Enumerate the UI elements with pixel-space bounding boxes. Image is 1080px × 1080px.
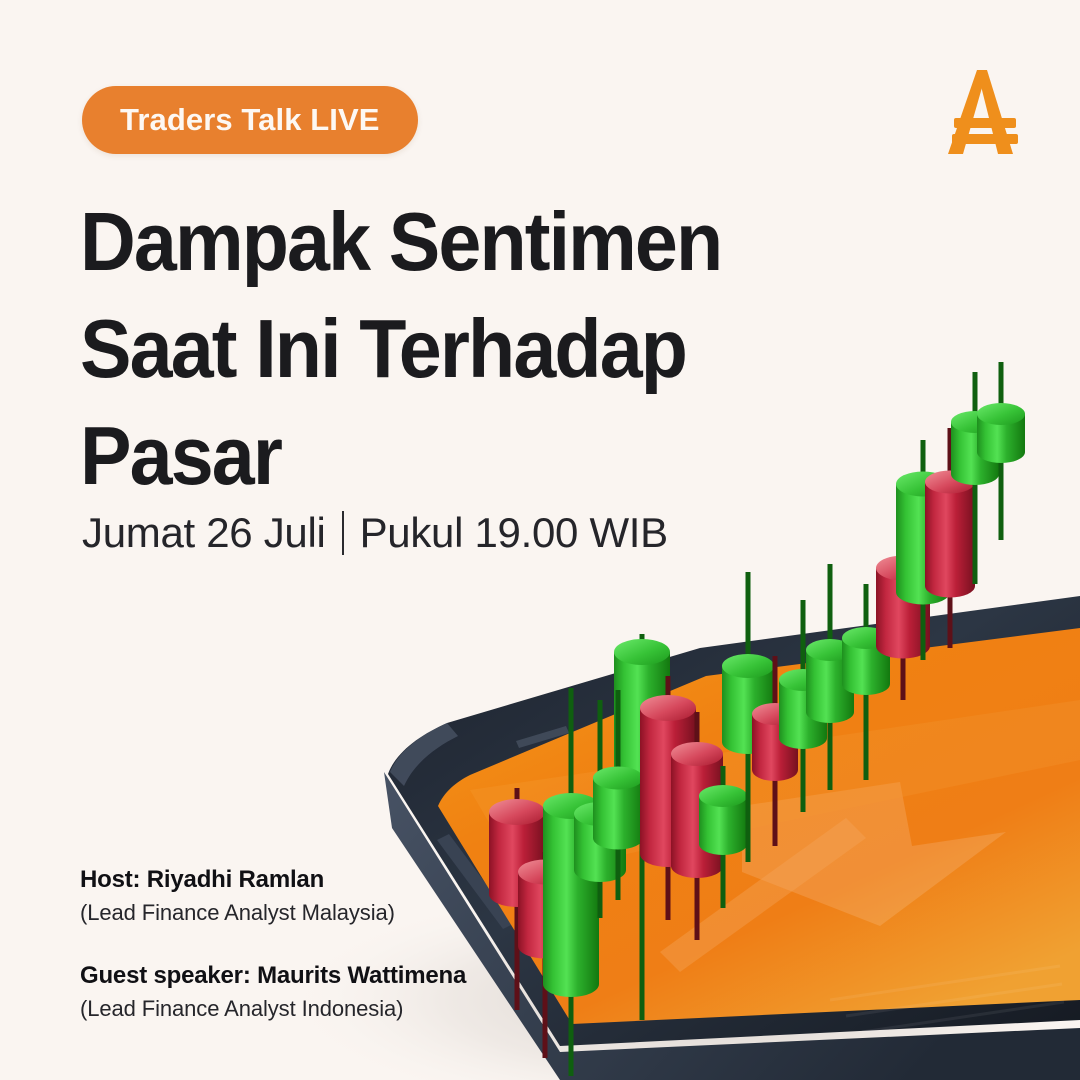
credit-host-role: (Lead Finance Analyst Malaysia)	[80, 900, 550, 926]
candle-17	[925, 428, 975, 648]
headline-line-1: Dampak Sentimen	[80, 188, 787, 295]
credit-guest-role: (Lead Finance Analyst Indonesia)	[80, 996, 550, 1022]
candle-11	[752, 656, 798, 846]
phone-rim-highlight	[390, 723, 458, 786]
candle-12	[779, 600, 827, 812]
candle-8	[671, 712, 723, 940]
live-badge-label: Traders Talk LIVE	[120, 102, 380, 138]
candle-4	[574, 700, 626, 918]
headline-line-2: Saat Ini Terhadap	[80, 295, 787, 402]
schedule: Jumat 26 Juli Pukul 19.00 WIB	[82, 509, 668, 557]
screen-arrow-watermark	[742, 782, 1006, 926]
credit-guest-name: Guest speaker: Maurits Wattimena	[80, 962, 550, 990]
credit-host-name: Host: Riyadhi Ramlan	[80, 866, 550, 894]
candle-9	[699, 766, 747, 908]
credit-host: Host: Riyadhi Ramlan (Lead Finance Analy…	[80, 866, 550, 926]
credit-guest: Guest speaker: Maurits Wattimena (Lead F…	[80, 962, 550, 1022]
speaker-credits: Host: Riyadhi Ramlan (Lead Finance Analy…	[80, 866, 550, 1022]
promo-poster: Traders Talk LIVE Dampak Sentimen Saat I…	[0, 0, 1080, 1080]
candle-13	[806, 564, 854, 790]
candle-16	[896, 440, 950, 660]
candle-7	[640, 676, 696, 920]
candle-19	[977, 362, 1025, 540]
schedule-time: Pukul 19.00 WIB	[360, 509, 668, 557]
headline-line-3: Pasar	[80, 402, 787, 509]
candle-15	[876, 520, 930, 700]
candle-5	[614, 634, 670, 1020]
candle-18	[951, 372, 999, 584]
schedule-divider	[342, 511, 344, 555]
candle-14	[842, 584, 890, 780]
candle-10	[722, 572, 774, 862]
schedule-date: Jumat 26 Juli	[82, 509, 326, 557]
phone-earpiece	[516, 726, 569, 748]
ascendex-a-logo-icon	[928, 62, 1032, 166]
page-title: Dampak Sentimen Saat Ini Terhadap Pasar	[80, 188, 840, 509]
live-badge[interactable]: Traders Talk LIVE	[82, 86, 418, 154]
candle-6	[593, 690, 643, 900]
candle-3	[543, 688, 599, 1076]
